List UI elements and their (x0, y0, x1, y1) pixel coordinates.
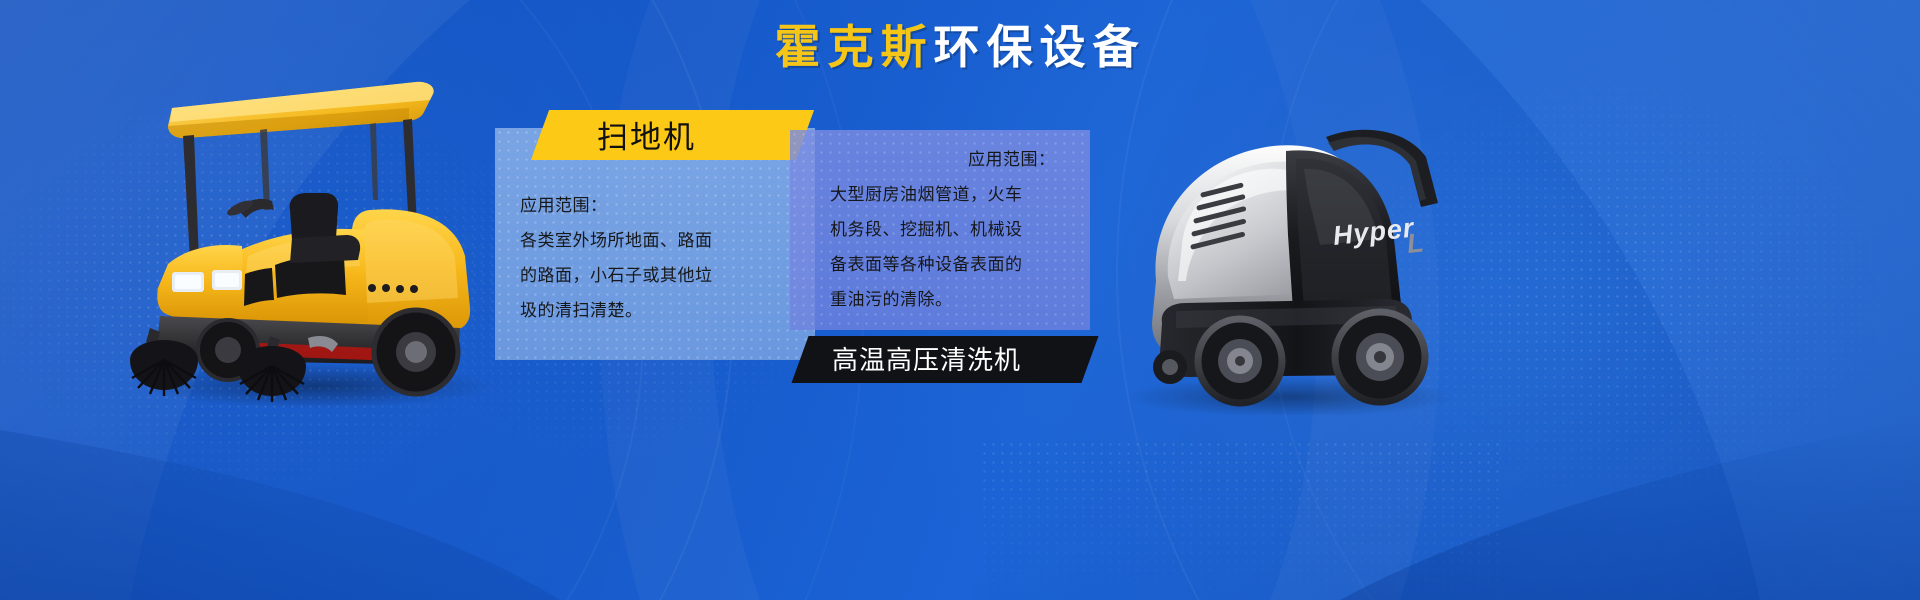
right-product-tag-label: 高温高压清洗机 (832, 343, 1082, 377)
right-desc-line-2: 机务段、挖掘机、机械设 (830, 212, 1076, 247)
left-product-description: 应用范围： 各类室外场所地面、路面 的路面，小石子或其他垃 圾的清扫清楚。 (520, 188, 790, 328)
right-product-description: 应用范围： 大型厨房油烟管道，火车 机务段、挖掘机、机械设 备表面等各种设备表面… (830, 142, 1076, 317)
headline-brand: 霍克斯 (775, 21, 934, 73)
right-desc-line-1: 大型厨房油烟管道，火车 (830, 177, 1076, 212)
right-desc-line-4: 重油污的清除。 (830, 282, 1076, 317)
left-desc-line-2: 的路面，小石子或其他垃 (520, 258, 790, 293)
left-product-tag-label: 扫地机 (597, 118, 817, 158)
left-lead-label: 应用范围： (520, 188, 790, 223)
svg-text:L: L (1405, 227, 1426, 259)
mesh-texture (980, 440, 1500, 600)
right-desc-line-3: 备表面等各种设备表面的 (830, 247, 1076, 282)
washer-wheel-rear (1335, 312, 1425, 402)
right-lead-label: 应用范围： (830, 142, 1076, 177)
ride-on-street-sweeper-image (120, 60, 510, 410)
left-desc-line-1: 各类室外场所地面、路面 (520, 223, 790, 258)
hot-water-pressure-washer-image: Hyper L (1090, 85, 1480, 415)
washer-wheel-front (1198, 319, 1282, 403)
promo-banner: 霍克斯环保设备 (0, 0, 1920, 600)
left-desc-line-3: 圾的清扫清楚。 (520, 293, 790, 328)
headline-suffix: 环保设备 (934, 21, 1146, 73)
